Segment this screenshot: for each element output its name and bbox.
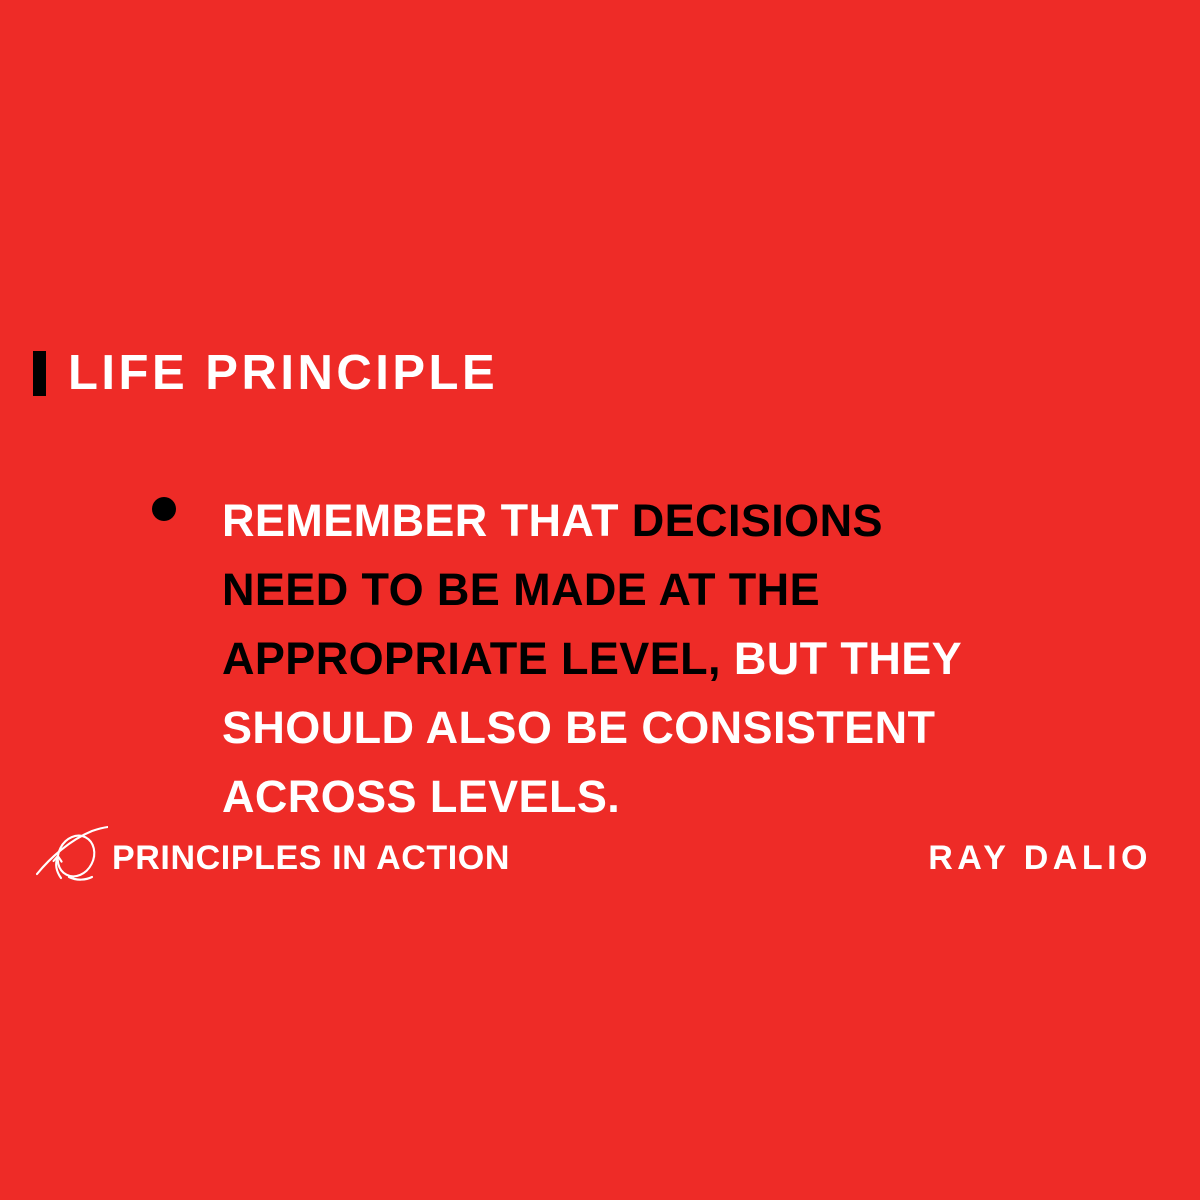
bullet-point-icon <box>152 497 176 521</box>
header-accent-bar <box>33 351 46 396</box>
quote-block: REMEMBER THAT DECISIONS NEED TO BE MADE … <box>152 486 1032 831</box>
brand-lockup: PRINCIPLES IN ACTION <box>36 826 510 890</box>
author-name: RAY DALIO <box>928 838 1152 878</box>
quote-card: LIFE PRINCIPLE REMEMBER THAT DECISIONS N… <box>0 0 1200 1200</box>
header: LIFE PRINCIPLE <box>33 347 498 399</box>
footer: PRINCIPLES IN ACTION RAY DALIO <box>0 826 1200 890</box>
quote-segment-white-lead: REMEMBER THAT <box>222 495 632 546</box>
brand-name: PRINCIPLES IN ACTION <box>112 841 510 875</box>
principles-swirl-logo-icon <box>36 826 108 890</box>
page-title: LIFE PRINCIPLE <box>68 349 498 398</box>
quote-text: REMEMBER THAT DECISIONS NEED TO BE MADE … <box>222 486 1022 831</box>
